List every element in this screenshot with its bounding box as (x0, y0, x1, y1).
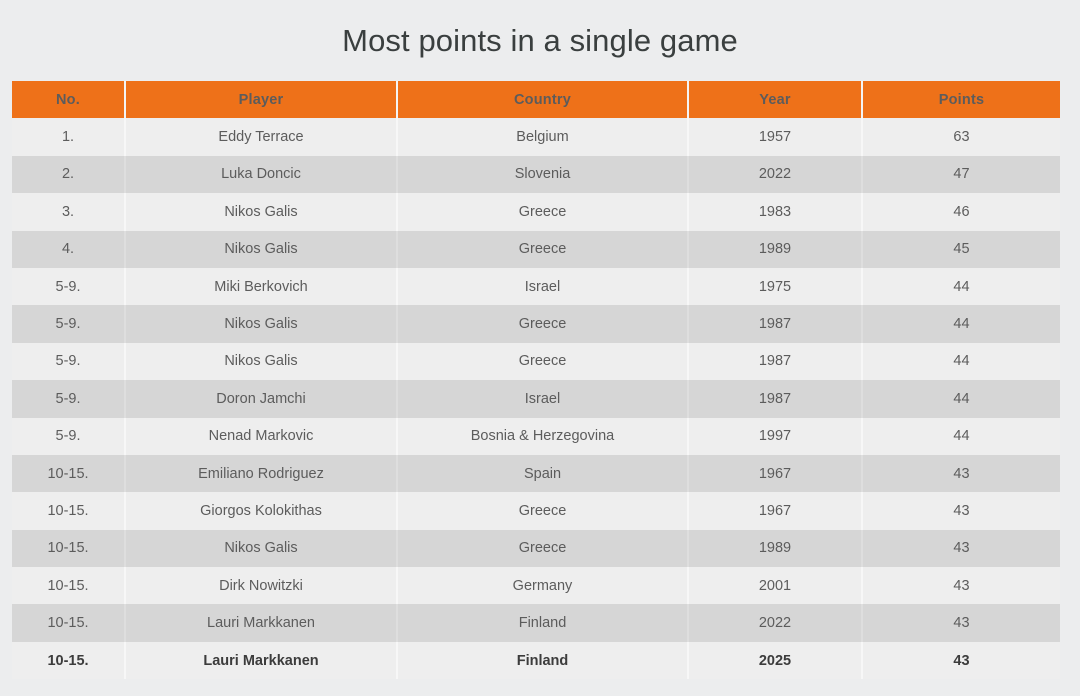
cell-year: 1983 (688, 193, 862, 230)
cell-no: 3. (12, 193, 125, 230)
table-row[interactable]: 3.Nikos GalisGreece198346 (12, 193, 1060, 230)
cell-player: Eddy Terrace (125, 118, 397, 155)
cell-year: 1987 (688, 380, 862, 417)
table-body: 1.Eddy TerraceBelgium1957632.Luka Doncic… (12, 118, 1060, 679)
cell-country: Greece (397, 343, 688, 380)
cell-country: Greece (397, 492, 688, 529)
cell-no: 10-15. (12, 455, 125, 492)
table-row[interactable]: 4.Nikos GalisGreece198945 (12, 231, 1060, 268)
cell-year: 2022 (688, 604, 862, 641)
cell-player: Emiliano Rodriguez (125, 455, 397, 492)
cell-no: 10-15. (12, 567, 125, 604)
cell-points: 63 (862, 118, 1060, 155)
cell-country: Germany (397, 567, 688, 604)
cell-year: 1989 (688, 231, 862, 268)
cell-points: 44 (862, 343, 1060, 380)
cell-year: 1975 (688, 268, 862, 305)
table-row[interactable]: 10-15.Lauri MarkkanenFinland202243 (12, 604, 1060, 641)
cell-player: Doron Jamchi (125, 380, 397, 417)
cell-year: 2001 (688, 567, 862, 604)
cell-country: Finland (397, 642, 688, 679)
cell-year: 1989 (688, 530, 862, 567)
table-row[interactable]: 1.Eddy TerraceBelgium195763 (12, 118, 1060, 155)
cell-points: 46 (862, 193, 1060, 230)
cell-player: Miki Berkovich (125, 268, 397, 305)
cell-country: Greece (397, 530, 688, 567)
table-row[interactable]: 5-9.Doron JamchiIsrael198744 (12, 380, 1060, 417)
cell-points: 43 (862, 455, 1060, 492)
column-header-year[interactable]: Year (688, 81, 862, 118)
cell-country: Israel (397, 380, 688, 417)
cell-no: 10-15. (12, 492, 125, 529)
cell-year: 1967 (688, 492, 862, 529)
cell-player: Nikos Galis (125, 193, 397, 230)
cell-points: 43 (862, 642, 1060, 679)
cell-no: 10-15. (12, 642, 125, 679)
cell-year: 2025 (688, 642, 862, 679)
cell-points: 44 (862, 418, 1060, 455)
table-header: No. Player Country Year Points (12, 81, 1060, 118)
cell-player: Luka Doncic (125, 156, 397, 193)
table-row[interactable]: 5-9.Nikos GalisGreece198744 (12, 305, 1060, 342)
cell-country: Greece (397, 305, 688, 342)
cell-points: 44 (862, 305, 1060, 342)
table-row[interactable]: 5-9.Miki BerkovichIsrael197544 (12, 268, 1060, 305)
ranking-table-container: No. Player Country Year Points 1.Eddy Te… (12, 81, 1060, 679)
table-row[interactable]: 5-9.Nenad MarkovicBosnia & Herzegovina19… (12, 418, 1060, 455)
cell-year: 1967 (688, 455, 862, 492)
cell-no: 5-9. (12, 343, 125, 380)
cell-no: 5-9. (12, 305, 125, 342)
cell-country: Israel (397, 268, 688, 305)
cell-country: Spain (397, 455, 688, 492)
cell-country: Bosnia & Herzegovina (397, 418, 688, 455)
cell-no: 5-9. (12, 418, 125, 455)
cell-year: 1987 (688, 305, 862, 342)
cell-points: 43 (862, 530, 1060, 567)
cell-player: Lauri Markkanen (125, 604, 397, 641)
cell-points: 43 (862, 492, 1060, 529)
cell-country: Slovenia (397, 156, 688, 193)
table-row[interactable]: 10-15.Lauri MarkkanenFinland202543 (12, 642, 1060, 679)
cell-points: 45 (862, 231, 1060, 268)
table-row[interactable]: 2.Luka DoncicSlovenia202247 (12, 156, 1060, 193)
table-row[interactable]: 10-15.Nikos GalisGreece198943 (12, 530, 1060, 567)
page-title: Most points in a single game (0, 0, 1080, 64)
table-row[interactable]: 10-15.Dirk NowitzkiGermany200143 (12, 567, 1060, 604)
cell-player: Nikos Galis (125, 231, 397, 268)
cell-year: 2022 (688, 156, 862, 193)
cell-no: 4. (12, 231, 125, 268)
cell-year: 1957 (688, 118, 862, 155)
table-row[interactable]: 5-9.Nikos GalisGreece198744 (12, 343, 1060, 380)
table-row[interactable]: 10-15.Emiliano RodriguezSpain196743 (12, 455, 1060, 492)
cell-player: Giorgos Kolokithas (125, 492, 397, 529)
column-header-player[interactable]: Player (125, 81, 397, 118)
column-header-points[interactable]: Points (862, 81, 1060, 118)
table-header-row: No. Player Country Year Points (12, 81, 1060, 118)
table-row[interactable]: 10-15.Giorgos KolokithasGreece196743 (12, 492, 1060, 529)
cell-no: 1. (12, 118, 125, 155)
cell-player: Lauri Markkanen (125, 642, 397, 679)
cell-country: Greece (397, 231, 688, 268)
cell-player: Nikos Galis (125, 305, 397, 342)
cell-points: 44 (862, 380, 1060, 417)
cell-player: Nikos Galis (125, 343, 397, 380)
cell-no: 5-9. (12, 268, 125, 305)
cell-no: 10-15. (12, 530, 125, 567)
cell-player: Nikos Galis (125, 530, 397, 567)
cell-points: 43 (862, 604, 1060, 641)
cell-no: 10-15. (12, 604, 125, 641)
cell-country: Belgium (397, 118, 688, 155)
cell-country: Greece (397, 193, 688, 230)
cell-year: 1997 (688, 418, 862, 455)
cell-no: 5-9. (12, 380, 125, 417)
ranking-table: No. Player Country Year Points 1.Eddy Te… (12, 81, 1060, 679)
column-header-country[interactable]: Country (397, 81, 688, 118)
cell-points: 47 (862, 156, 1060, 193)
column-header-no[interactable]: No. (12, 81, 125, 118)
cell-player: Nenad Markovic (125, 418, 397, 455)
cell-points: 44 (862, 268, 1060, 305)
cell-year: 1987 (688, 343, 862, 380)
cell-country: Finland (397, 604, 688, 641)
page-root: Most points in a single game No. Player … (0, 0, 1080, 696)
cell-points: 43 (862, 567, 1060, 604)
cell-no: 2. (12, 156, 125, 193)
cell-player: Dirk Nowitzki (125, 567, 397, 604)
